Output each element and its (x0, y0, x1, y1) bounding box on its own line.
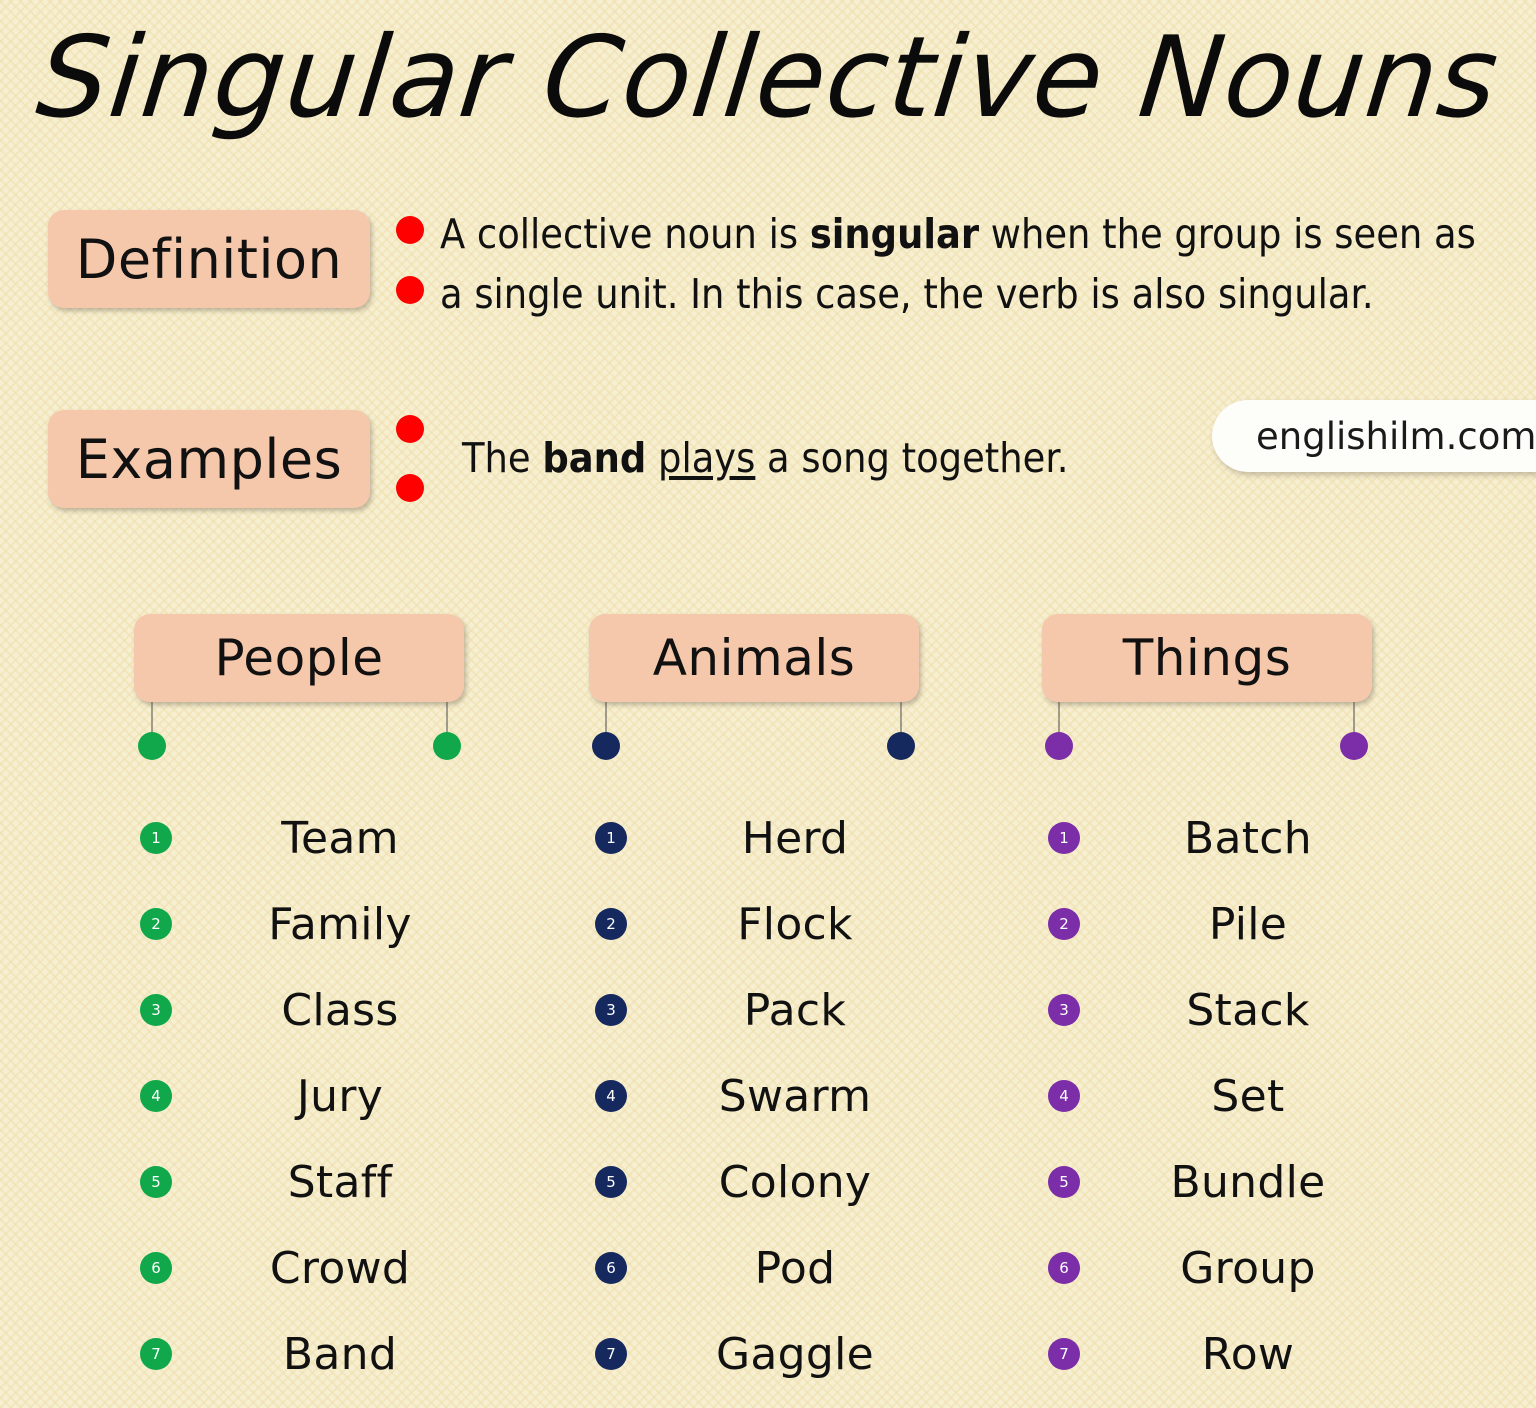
examples-bullet-1-icon (396, 415, 424, 443)
definition-label-chip: Definition (48, 210, 370, 308)
connector-animals-right (900, 702, 902, 736)
list-item-label: Set (1078, 1071, 1418, 1122)
list-item-number-badge: 6 (140, 1252, 172, 1284)
list-item-label: Gaggle (625, 1329, 965, 1380)
list-item: 5Bundle (1018, 1139, 1438, 1225)
list-item: 1Batch (1018, 795, 1438, 881)
list-item-label: Row (1078, 1329, 1418, 1380)
example-bold-noun: band (542, 434, 646, 482)
list-item: 2Family (110, 881, 530, 967)
page-title: Singular Collective Nouns (0, 8, 1536, 148)
list-item-number-badge: 4 (1048, 1080, 1080, 1112)
list-item-label: Crowd (170, 1243, 510, 1294)
list-item-label: Class (170, 985, 510, 1036)
list-item-label: Herd (625, 813, 965, 864)
connector-animals-left (605, 702, 607, 736)
list-item: 6Group (1018, 1225, 1438, 1311)
list-item: 3Stack (1018, 967, 1438, 1053)
list-item-label: Swarm (625, 1071, 965, 1122)
list-item-number-badge: 3 (595, 994, 627, 1026)
list-item: 6Crowd (110, 1225, 530, 1311)
definition-bullet-2-icon (396, 276, 424, 304)
list-item-label: Band (170, 1329, 510, 1380)
list-item-label: Family (170, 899, 510, 950)
list-item-number-badge: 7 (1048, 1338, 1080, 1370)
list-item-label: Team (170, 813, 510, 864)
example-sentence: The band plays a song together. (462, 428, 1068, 488)
site-badge[interactable]: englishilm.com (1212, 400, 1536, 472)
list-item: 4Jury (110, 1053, 530, 1139)
list-item-number-badge: 5 (1048, 1166, 1080, 1198)
list-item-number-badge: 7 (595, 1338, 627, 1370)
connector-things-left (1058, 702, 1060, 736)
noun-list-things: 1Batch2Pile3Stack4Set5Bundle6Group7Row (1018, 795, 1438, 1397)
list-item-number-badge: 1 (1048, 822, 1080, 854)
list-item-label: Group (1078, 1243, 1418, 1294)
list-item: 7Band (110, 1311, 530, 1397)
list-item-label: Batch (1078, 813, 1418, 864)
list-item: 1Herd (565, 795, 985, 881)
list-item: 7Row (1018, 1311, 1438, 1397)
list-item-number-badge: 1 (140, 822, 172, 854)
list-item-label: Stack (1078, 985, 1418, 1036)
definition-line1-bold: singular (810, 210, 979, 258)
example-post: a song together. (755, 434, 1068, 482)
list-item: 2Pile (1018, 881, 1438, 967)
examples-label: Examples (76, 428, 342, 491)
list-item-label: Colony (625, 1157, 965, 1208)
list-item-label: Pile (1078, 899, 1418, 950)
list-item: 4Set (1018, 1053, 1438, 1139)
list-item-number-badge: 1 (595, 822, 627, 854)
list-item: 3Class (110, 967, 530, 1053)
connector-people-right (446, 702, 448, 736)
list-item-number-badge: 3 (1048, 994, 1080, 1026)
list-item-number-badge: 2 (595, 908, 627, 940)
examples-label-chip: Examples (48, 410, 370, 508)
list-item-label: Staff (170, 1157, 510, 1208)
list-item-label: Bundle (1078, 1157, 1418, 1208)
list-item-number-badge: 4 (595, 1080, 627, 1112)
definition-bullet-1-icon (396, 216, 424, 244)
category-heading-animals-label: Animals (653, 629, 856, 687)
example-underlined-verb: plays (658, 434, 755, 482)
category-heading-people-label: People (214, 629, 383, 687)
list-item-number-badge: 4 (140, 1080, 172, 1112)
list-item-number-badge: 3 (140, 994, 172, 1026)
definition-line2: a single unit. In this case, the verb is… (440, 270, 1374, 318)
list-item-number-badge: 6 (595, 1252, 627, 1284)
category-heading-people: People (134, 614, 464, 702)
list-item: 2Flock (565, 881, 985, 967)
list-item-label: Jury (170, 1071, 510, 1122)
definition-text: A collective noun is singular when the g… (440, 204, 1530, 324)
list-item-number-badge: 5 (595, 1166, 627, 1198)
list-item: 3Pack (565, 967, 985, 1053)
list-item-label: Pod (625, 1243, 965, 1294)
list-item-number-badge: 6 (1048, 1252, 1080, 1284)
definition-label: Definition (76, 228, 342, 291)
noun-list-people: 1Team2Family3Class4Jury5Staff6Crowd7Band (110, 795, 530, 1397)
connector-people-left (151, 702, 153, 736)
list-item-label: Flock (625, 899, 965, 950)
list-item: 6Pod (565, 1225, 985, 1311)
category-heading-animals: Animals (589, 614, 919, 702)
connector-things-right (1353, 702, 1355, 736)
list-item: 7Gaggle (565, 1311, 985, 1397)
list-item-number-badge: 2 (1048, 908, 1080, 940)
list-item: 5Colony (565, 1139, 985, 1225)
list-item-number-badge: 5 (140, 1166, 172, 1198)
list-item: 4Swarm (565, 1053, 985, 1139)
noun-list-animals: 1Herd2Flock3Pack4Swarm5Colony6Pod7Gaggle (565, 795, 985, 1397)
list-item-number-badge: 7 (140, 1338, 172, 1370)
examples-bullet-2-icon (396, 474, 424, 502)
list-item: 1Team (110, 795, 530, 881)
definition-line1-pre: A collective noun is (440, 210, 810, 258)
site-badge-text: englishilm.com (1256, 415, 1536, 458)
example-mid (646, 434, 658, 482)
definition-line1-post: when the group is seen as (979, 210, 1476, 258)
category-heading-things: Things (1042, 614, 1372, 702)
list-item-label: Pack (625, 985, 965, 1036)
category-heading-things-label: Things (1123, 629, 1292, 687)
list-item: 5Staff (110, 1139, 530, 1225)
example-pre: The (462, 434, 542, 482)
list-item-number-badge: 2 (140, 908, 172, 940)
